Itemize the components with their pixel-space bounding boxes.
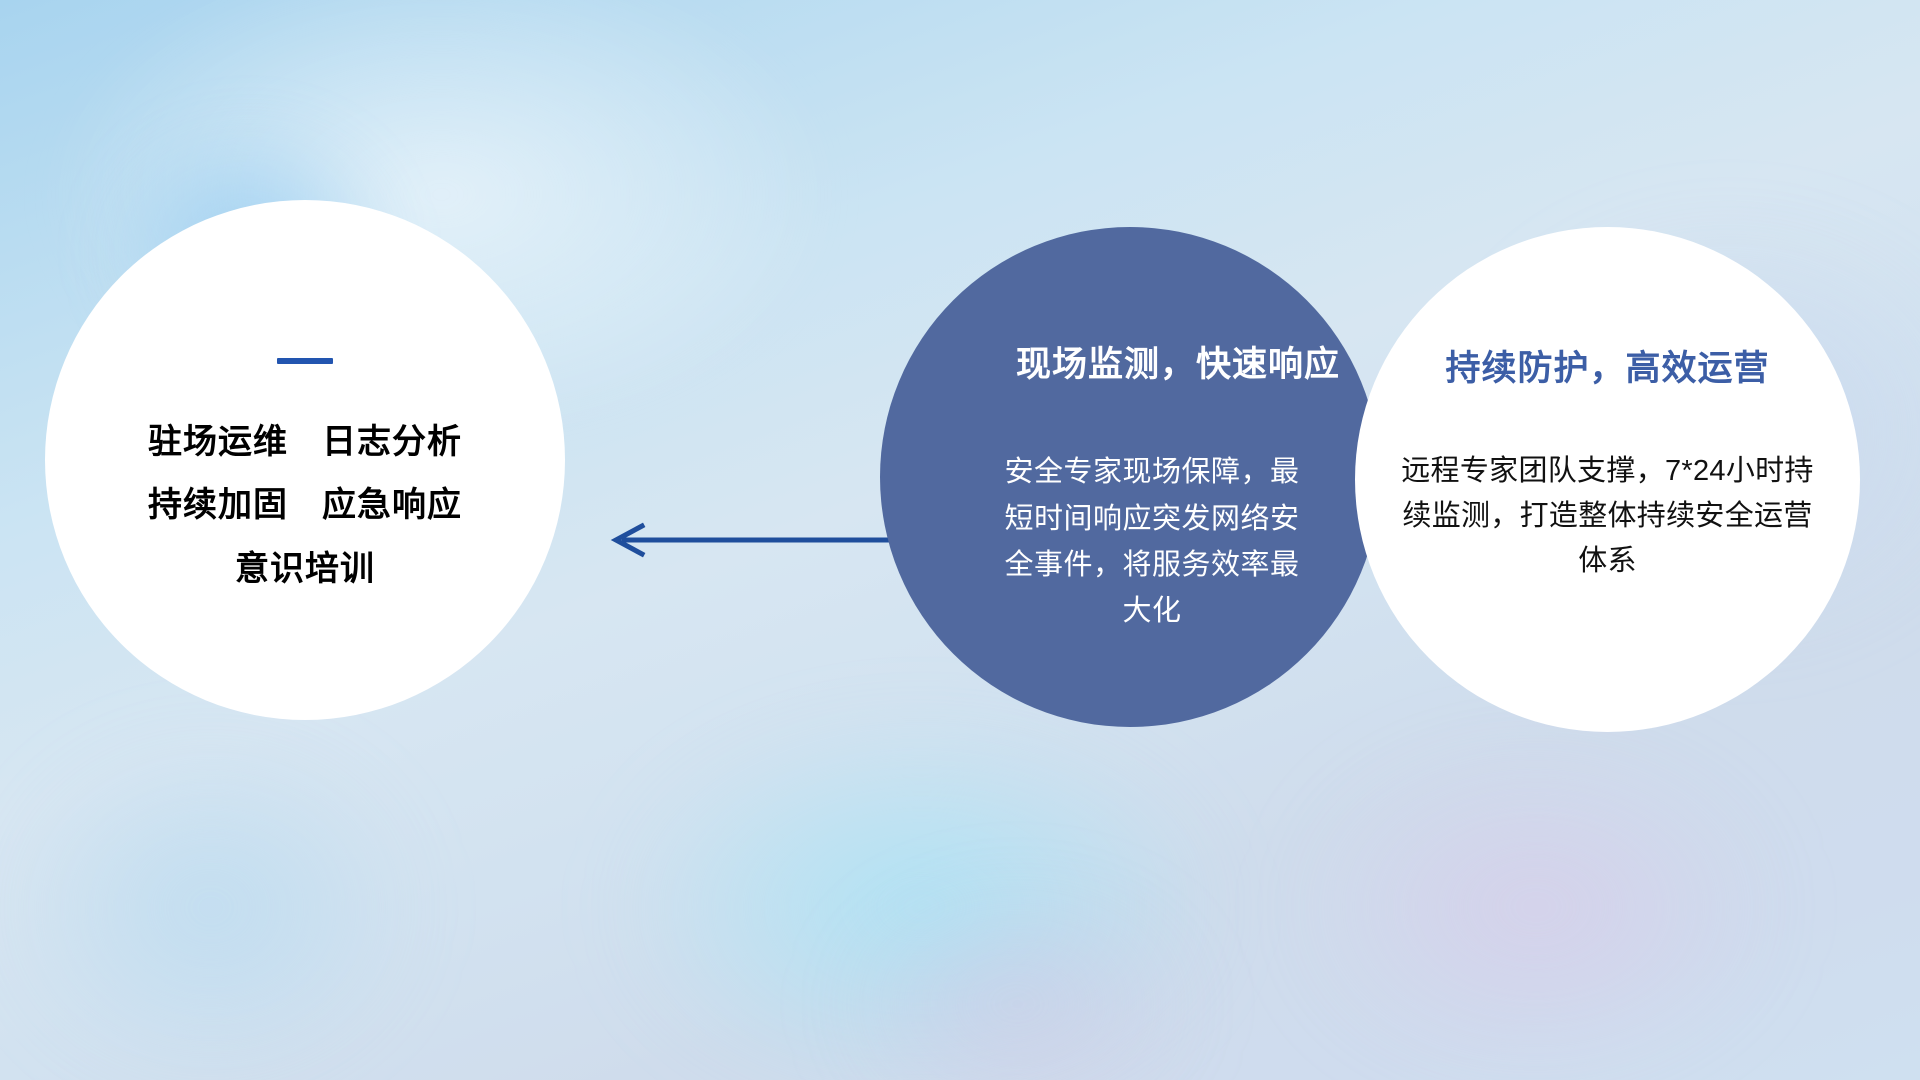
capability-tag: 意识培训: [235, 551, 375, 588]
capability-tag-row: 驻场运维 日志分析: [148, 424, 462, 461]
continuous-protection-circle: 持续防护，高效运营 远程专家团队支撑，7*24小时持续监测，打造整体持续安全运营…: [1355, 227, 1860, 732]
capability-tag: 日志分析: [322, 424, 462, 461]
onsite-monitoring-body: 安全专家现场保障，最短时间响应突发网络安全事件，将服务效率最大化: [992, 449, 1312, 635]
continuous-protection-body: 远程专家团队支撑，7*24小时持续监测，打造整体持续安全运营体系: [1393, 449, 1823, 584]
connector-arrow: [600, 520, 900, 560]
capability-tag-row: 意识培训: [235, 551, 375, 588]
capability-tag-rows: 驻场运维 日志分析 持续加固 应急响应 意识培训: [148, 424, 462, 588]
onsite-monitoring-circle: 现场监测，快速响应 安全专家现场保障，最短时间响应突发网络安全事件，将服务效率最…: [880, 227, 1380, 727]
capability-tag: 持续加固: [148, 487, 288, 524]
continuous-protection-content: 持续防护，高效运营 远程专家团队支撑，7*24小时持续监测，打造整体持续安全运营…: [1355, 349, 1860, 584]
accent-dash-divider: [277, 358, 333, 364]
onsite-monitoring-content: 现场监测，快速响应 安全专家现场保障，最短时间响应突发网络安全事件，将服务效率最…: [880, 345, 1380, 635]
background-glow-pink-bottom-center: [768, 842, 1267, 1080]
slide-canvas: 驻场运维 日志分析 持续加固 应急响应 意识培训 现场监测，快速响应 安全专家现…: [0, 0, 1920, 1080]
capability-tag: 驻场运维: [148, 424, 288, 461]
capability-tags-content: 驻场运维 日志分析 持续加固 应急响应 意识培训: [45, 358, 565, 588]
capability-tag-row: 持续加固 应急响应: [148, 487, 462, 524]
continuous-protection-title: 持续防护，高效运营: [1445, 349, 1769, 389]
capability-tag: 应急响应: [322, 487, 462, 524]
background-glow-violet-bottom: [1210, 691, 1863, 1080]
onsite-monitoring-title: 现场监测，快速响应: [1016, 345, 1340, 385]
background-glow-blue-bottom-left: [0, 670, 499, 1080]
capability-tags-circle: 驻场运维 日志分析 持续加固 应急响应 意识培训: [45, 200, 565, 720]
